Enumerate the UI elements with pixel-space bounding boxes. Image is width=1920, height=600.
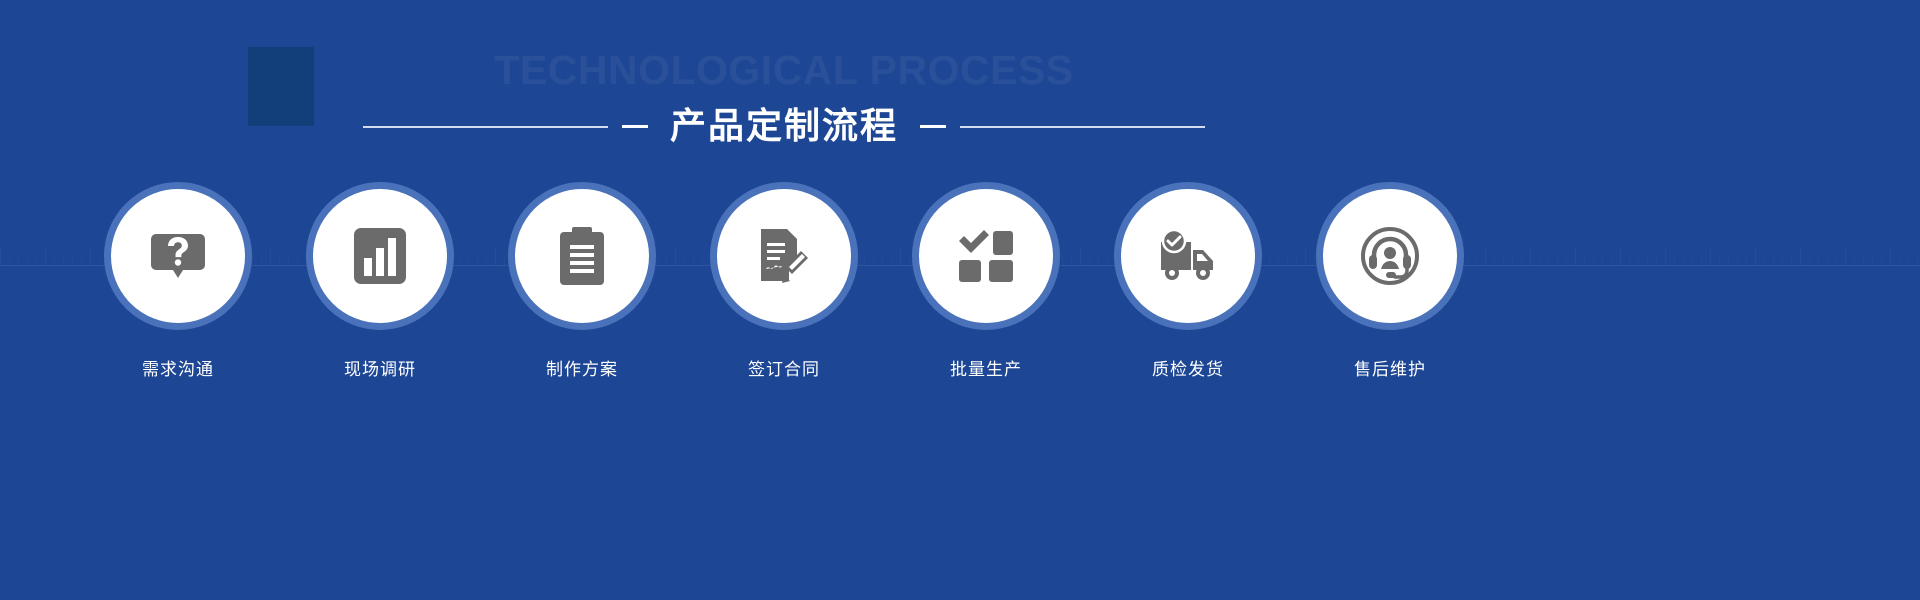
english-title: TECHNOLOGICAL PROCESS xyxy=(0,50,1568,91)
rule-right-dash xyxy=(920,125,946,128)
step-icon-circle[interactable] xyxy=(710,182,858,330)
step-icon-circle[interactable] xyxy=(1114,182,1262,330)
step-icon-circle[interactable] xyxy=(1316,182,1464,330)
process-banner: TECHNOLOGICAL PROCESS 产品定制流程 需求沟通 xyxy=(0,0,1920,600)
ruler-tick xyxy=(1800,247,1801,266)
step-label: 制作方案 xyxy=(546,362,618,379)
chinese-title-row: 产品定制流程 xyxy=(0,104,1568,149)
ruler-tick xyxy=(1890,247,1891,266)
delivery-truck-check-icon xyxy=(1157,230,1219,282)
ruler-tick xyxy=(1845,247,1846,266)
rule-right-long xyxy=(960,126,1205,128)
page-title: 产品定制流程 xyxy=(648,104,920,149)
ruler-tick xyxy=(1710,247,1711,266)
process-step-2[interactable]: 现场调研 xyxy=(306,182,454,379)
process-steps-list: 需求沟通 现场调研 xyxy=(0,182,1568,379)
speech-bubble-question-icon xyxy=(150,228,206,284)
step-label: 需求沟通 xyxy=(142,362,214,379)
step-label: 签订合同 xyxy=(748,362,820,379)
ruler-tick xyxy=(1665,247,1666,266)
step-label: 售后维护 xyxy=(1354,362,1426,379)
ruler-tick xyxy=(1575,247,1576,266)
process-step-3[interactable]: 制作方案 xyxy=(508,182,656,379)
process-step-6[interactable]: 质检发货 xyxy=(1114,182,1262,379)
rule-left-gap xyxy=(608,126,622,128)
contract-signature-icon xyxy=(757,227,811,285)
step-label: 批量生产 xyxy=(950,362,1022,379)
headset-support-icon xyxy=(1361,227,1419,285)
bar-chart-icon xyxy=(354,228,406,284)
checklist-blocks-icon xyxy=(957,229,1015,283)
process-step-4[interactable]: 签订合同 xyxy=(710,182,858,379)
process-step-1[interactable]: 需求沟通 xyxy=(104,182,252,379)
step-icon-circle[interactable] xyxy=(912,182,1060,330)
rule-right-gap xyxy=(946,126,960,128)
process-step-5[interactable]: 批量生产 xyxy=(912,182,1060,379)
step-icon-circle[interactable] xyxy=(508,182,656,330)
ruler-tick xyxy=(1620,247,1621,266)
rule-left-long xyxy=(363,126,608,128)
ruler-tick xyxy=(1755,247,1756,266)
step-icon-circle[interactable] xyxy=(104,182,252,330)
step-icon-circle[interactable] xyxy=(306,182,454,330)
step-label: 质检发货 xyxy=(1152,362,1224,379)
step-label: 现场调研 xyxy=(344,362,416,379)
process-step-7[interactable]: 售后维护 xyxy=(1316,182,1464,379)
rule-left-dash xyxy=(622,125,648,128)
clipboard-document-icon xyxy=(558,227,606,285)
